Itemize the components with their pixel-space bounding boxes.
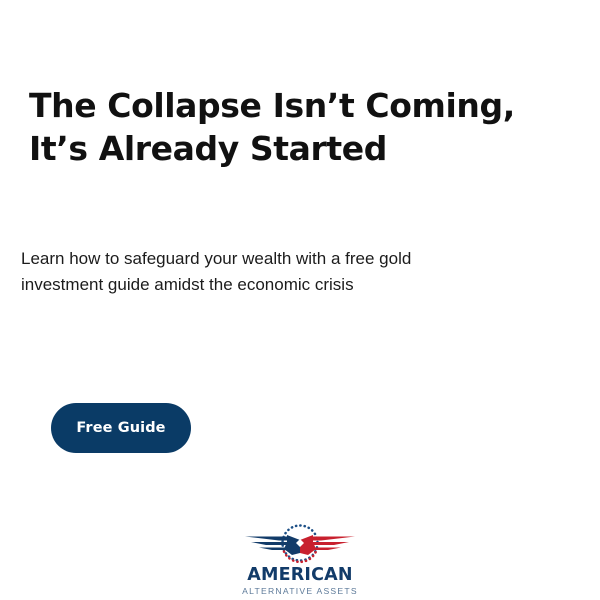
logo-tagline: ALTERNATIVE ASSETS <box>242 587 358 596</box>
hero-subcopy: Learn how to safeguard your wealth with … <box>21 246 461 297</box>
free-guide-button[interactable]: Free Guide <box>51 403 191 453</box>
american-alternative-assets-eagle-icon <box>244 520 356 566</box>
page-title: The Collapse Isn’t Coming, It’s Already … <box>29 84 549 170</box>
brand-logo: AMERICAN ALTERNATIVE ASSETS <box>0 520 600 595</box>
logo-wordmark: AMERICAN <box>247 567 353 585</box>
landing-page: The Collapse Isn’t Coming, It’s Already … <box>0 0 600 600</box>
